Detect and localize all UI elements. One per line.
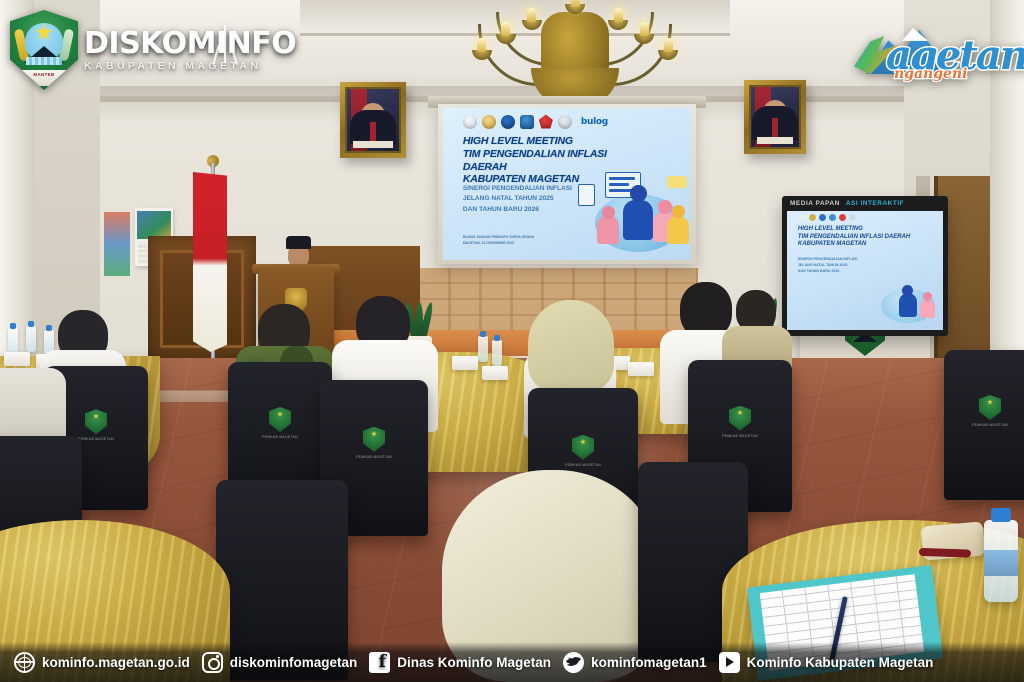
press-photo-kominfo-magetan: bulog HIGH LEVEL MEETING TIM PENGENDALIA…	[0, 0, 1024, 682]
projection-screen: bulog HIGH LEVEL MEETING TIM PENGENDALIA…	[438, 104, 696, 264]
tni-logo	[539, 115, 553, 129]
peci-cap	[286, 236, 311, 249]
wall-poster	[104, 212, 130, 276]
tv-slide-subtitle: SINERGI PENGENDALIAN INFLASI JELANG NATA…	[798, 257, 876, 274]
slide-venue-line2: MAGETAN, 31 DESEMBER 2025	[463, 241, 592, 246]
indonesian-flag	[193, 172, 227, 352]
youtube-icon	[719, 652, 740, 673]
facebook-icon: f	[369, 652, 390, 673]
tv-brand-right: ASI INTERAKTIF	[846, 200, 904, 207]
chair-seat-text: PEMKAB MAGETAN	[320, 455, 428, 459]
twitter-icon	[563, 652, 584, 673]
diskominfo-wordmark-sub: KABUPATEN MAGETAN	[84, 61, 296, 72]
polri-logo	[520, 115, 534, 129]
footer-item-youtube[interactable]: Kominfo Kabupaten Magetan	[719, 652, 934, 673]
water-bottle	[8, 328, 18, 354]
interactive-display-monitor: MEDIA PAPAN ASI INTERAKTIF HIGH LEVEL ME…	[782, 196, 948, 336]
tv-title-line1: HIGH LEVEL MEETING	[798, 226, 926, 234]
instagram-icon	[202, 652, 223, 673]
snack-box	[482, 366, 508, 380]
footer-item-website[interactable]: kominfo.magetan.go.id	[14, 652, 190, 673]
tv-subtitle-line3: DAN TAHUN BARU 2026	[798, 269, 876, 275]
globe-icon	[14, 652, 35, 673]
slide-venue: RUANG JANGAN PENDOPO SURYA GRAHA MAGETAN…	[463, 235, 592, 246]
kemendagri-logo	[463, 115, 477, 129]
chair-seat-text: PEMKAB MAGETAN	[688, 434, 792, 438]
emblem-motto: MANTEB	[14, 72, 74, 77]
tv-brand-left: MEDIA PAPAN	[790, 200, 840, 207]
magetan-regency-emblem: MANTEB	[10, 10, 78, 90]
bps-logo	[558, 115, 572, 129]
bank-indonesia-logo	[501, 115, 515, 129]
bulog-logo: bulog	[581, 117, 608, 127]
water-bottle	[492, 340, 502, 366]
footer-label-website: kominfo.magetan.go.id	[42, 655, 190, 670]
chair: PEMKAB MAGETAN	[944, 350, 1024, 500]
portrait-vicepresident	[744, 80, 806, 154]
presentation-slide: bulog HIGH LEVEL MEETING TIM PENGENDALIA…	[443, 108, 691, 260]
water-bottle	[26, 326, 36, 352]
portrait-president	[340, 82, 406, 158]
tv-partner-logos	[799, 214, 856, 221]
magetan-tourism-logo: agetan ngangeni	[838, 12, 1010, 90]
ceiling-recess	[300, 0, 730, 36]
tv-title-line2: TIM PENGENDALIAN INFLASI DAERAH	[798, 234, 926, 242]
kejaksaan-logo	[482, 115, 496, 129]
snack-box	[4, 352, 30, 366]
tv-slide-illustration	[877, 273, 939, 325]
slide-illustration	[583, 162, 687, 254]
water-bottle	[478, 336, 488, 362]
tv-screen-content: HIGH LEVEL MEETING TIM PENGENDALIAN INFL…	[787, 211, 943, 330]
diskominfo-wordmark-main: DISKOMINFO	[84, 29, 296, 59]
slide-partner-logos: bulog	[463, 113, 671, 130]
snack-box	[628, 362, 654, 376]
snack-box	[452, 356, 478, 370]
chair-seat-text: PEMKAB MAGETAN	[944, 423, 1024, 427]
slide-title-line1: HIGH LEVEL MEETING	[463, 135, 651, 148]
diskominfo-wordmark: DISKOMINFO KABUPATEN MAGETAN	[84, 29, 296, 72]
tv-title-line3: KABUPATEN MAGETAN	[798, 241, 926, 249]
chair-seat-text: PEMKAB MAGETAN	[228, 435, 332, 439]
footer-label-instagram: diskominfomagetan	[230, 655, 358, 670]
snack-wrapper	[921, 521, 986, 560]
footer-item-instagram[interactable]: diskominfomagetan	[202, 652, 358, 673]
water-bottle-foreground	[984, 520, 1018, 602]
footer-label-facebook: Dinas Kominfo Magetan	[397, 655, 551, 670]
footer-label-twitter: kominfomagetan1	[591, 655, 707, 670]
footer-item-facebook[interactable]: f Dinas Kominfo Magetan	[369, 652, 551, 673]
footer-label-youtube: Kominfo Kabupaten Magetan	[747, 655, 934, 670]
tv-brand: MEDIA PAPAN ASI INTERAKTIF	[790, 197, 940, 209]
tv-slide-title: HIGH LEVEL MEETING TIM PENGENDALIAN INFL…	[798, 226, 926, 249]
social-media-footer: kominfo.magetan.go.id diskominfomagetan …	[0, 642, 1024, 682]
tourism-logo-tagline: ngangeni	[894, 66, 967, 82]
diskominfo-brand-lockup: MANTEB DISKOMINFO KABUPATEN MAGETAN	[10, 8, 296, 92]
footer-item-twitter[interactable]: kominfomagetan1	[563, 652, 707, 673]
chair-seat-text: PEMKAB MAGETAN	[528, 463, 638, 467]
